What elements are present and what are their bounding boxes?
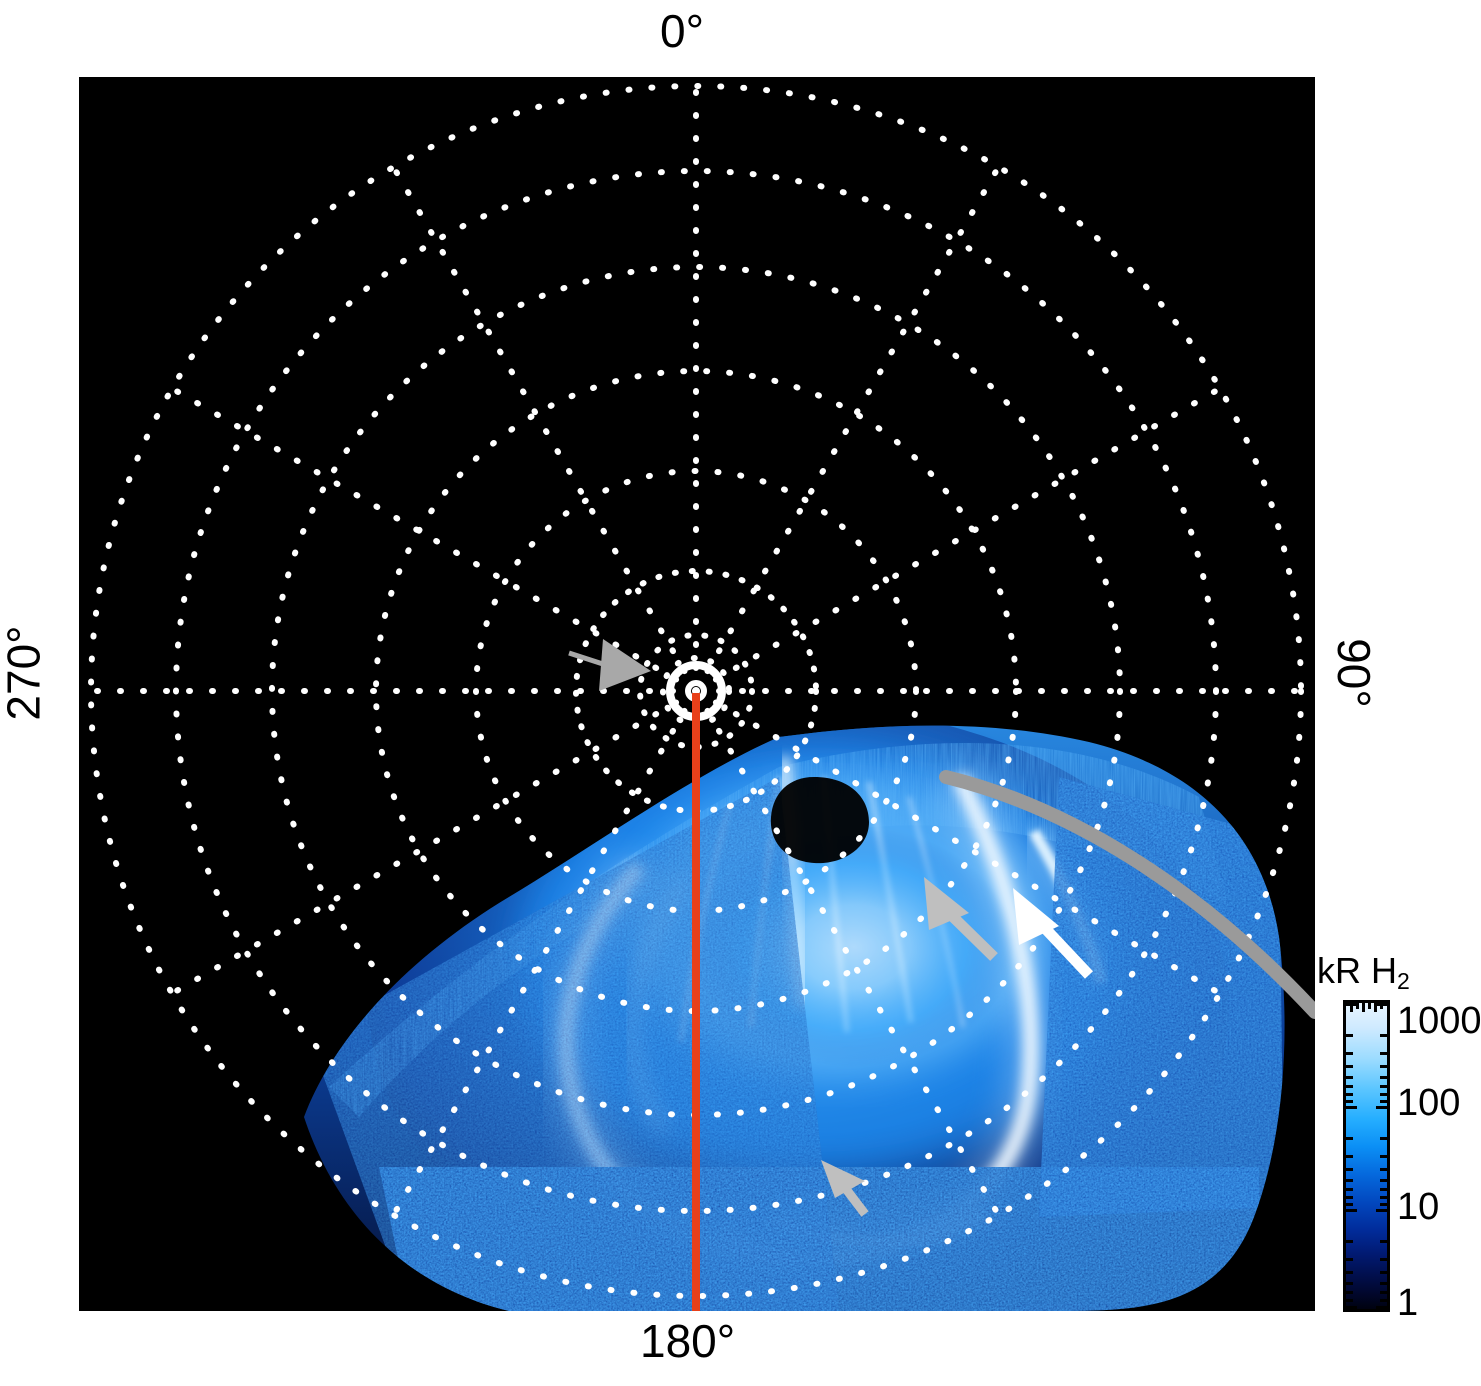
terminator-curve: [946, 777, 1315, 1012]
colorbar-title-subscript: 2: [1397, 968, 1410, 994]
annotation-layer: [79, 77, 1315, 1311]
polar-plot-panel: [79, 77, 1315, 1311]
colorbar-ticks: [1346, 1003, 1387, 1309]
colorbar-tick-label-10: 10: [1397, 1188, 1439, 1226]
azimuth-label-left: 270°: [1, 625, 47, 720]
arrow-pole-marker: [569, 639, 651, 691]
colorbar: kR H2: [1317, 950, 1481, 1322]
colorbar-tick-label-1000: 1000: [1397, 1002, 1481, 1040]
colorbar-title: kR H2: [1317, 950, 1410, 995]
azimuth-label-top: 0°: [660, 8, 704, 54]
azimuth-label-bottom: 180°: [640, 1318, 735, 1364]
azimuth-label-right: 90°: [1331, 638, 1377, 708]
colorbar-box: [1343, 1000, 1390, 1312]
colorbar-tick-label-1: 1: [1397, 1284, 1418, 1322]
polar-aurora-figure: 0° 180° 270° 90° kR H2: [0, 0, 1481, 1386]
arrow-dawn-spot-grey: [924, 877, 994, 957]
colorbar-title-text: kR H: [1317, 950, 1397, 991]
arrow-equatorward-diffuse: [821, 1160, 865, 1214]
arrow-dawn-spot-white: [1013, 888, 1089, 975]
colorbar-tick-label-100: 100: [1397, 1084, 1460, 1122]
